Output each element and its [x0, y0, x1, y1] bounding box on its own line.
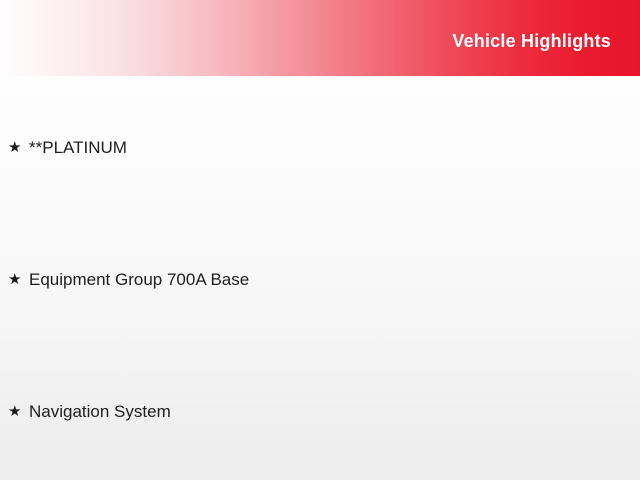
list-item: ★ Equipment Group 700A Base — [0, 267, 640, 293]
highlight-label: **PLATINUM — [29, 137, 127, 159]
highlight-label: Navigation System — [29, 401, 171, 423]
star-icon: ★ — [8, 137, 29, 159]
list-item: ★ **PLATINUM — [0, 135, 640, 161]
highlight-label: Equipment Group 700A Base — [29, 269, 249, 291]
list-item: ★ Navigation System — [0, 399, 640, 425]
header-banner: Vehicle Highlights — [0, 0, 640, 76]
vehicle-highlights-slide: Vehicle Highlights ★ **PLATINUM ★ Equipm… — [0, 0, 640, 480]
vehicle-highlights-list: ★ **PLATINUM ★ Equipment Group 700A Base… — [0, 76, 640, 480]
page-title: Vehicle Highlights — [452, 30, 611, 52]
star-icon: ★ — [8, 401, 29, 423]
star-icon: ★ — [8, 269, 29, 291]
